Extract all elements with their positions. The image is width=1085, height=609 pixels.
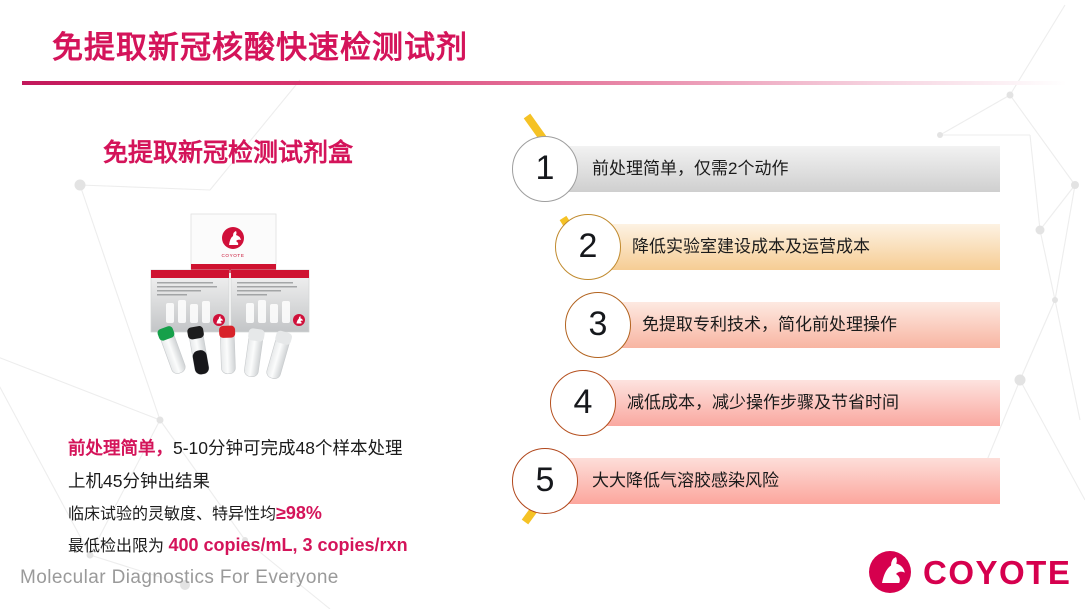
coyote-wolf-circle-logo-icon <box>868 550 912 594</box>
step-label-5: 大大降低气溶胶感染风险 <box>592 458 779 504</box>
title-divider <box>22 81 1067 85</box>
fact-line-1: 前处理简单，5-10分钟可完成48个样本处理 <box>68 432 488 465</box>
slide-canvas: 免提取新冠核酸快速检测试剂 免提取新冠检测试剂盒 COYOTE <box>0 0 1085 609</box>
left-facts: 前处理简单，5-10分钟可完成48个样本处理 上机45分钟出结果 临床试验的灵敏… <box>68 432 488 562</box>
step-number-5: 5 <box>512 448 578 514</box>
fact-line-4: 最低检出限为 400 copies/mL, 3 copies/rxn <box>68 530 488 562</box>
step-number-3: 3 <box>565 292 631 358</box>
steps-list: 1 2 3 4 5 前处理简单，仅需2个动作 降低实验室建设成本及运营成本 免提… <box>495 110 1025 530</box>
step-label-3: 免提取专利技术，简化前处理操作 <box>642 302 897 348</box>
coyote-logo: COYOTE <box>868 550 1068 598</box>
kit-heading: 免提取新冠检测试剂盒 <box>103 133 353 169</box>
step-number-4: 4 <box>550 370 616 436</box>
fact-line-2: 上机45分钟出结果 <box>68 465 488 498</box>
fact-3-rest: 临床试验的灵敏度、特异性均 <box>68 506 276 523</box>
step-label-2: 降低实验室建设成本及运营成本 <box>632 224 870 270</box>
product-photo: COYOTE <box>128 200 360 390</box>
fact-3-tail: ≥98% <box>276 503 322 523</box>
step-label-4: 减低成本，减少操作步骤及节省时间 <box>627 380 899 426</box>
fact-1-strong: 前处理简单， <box>68 438 173 458</box>
fact-line-3: 临床试验的灵敏度、特异性均≥98% <box>68 498 488 530</box>
tagline: Molecular Diagnostics For Everyone <box>20 567 339 589</box>
fact-4-tail: 400 copies/mL, 3 copies/rxn <box>168 535 407 555</box>
step-number-1: 1 <box>512 136 578 202</box>
fact-1-rest: 5-10分钟可完成48个样本处理 <box>173 438 403 458</box>
coyote-wordmark: COYOTE <box>923 554 1071 592</box>
svg-text:COYOTE: COYOTE <box>222 253 245 258</box>
step-label-1: 前处理简单，仅需2个动作 <box>592 146 788 192</box>
fact-4-rest: 最低检出限为 <box>68 538 168 555</box>
page-title: 免提取新冠核酸快速检测试剂 <box>52 22 468 67</box>
step-number-2: 2 <box>555 214 621 280</box>
fact-2-rest: 上机45分钟出结果 <box>68 471 210 491</box>
